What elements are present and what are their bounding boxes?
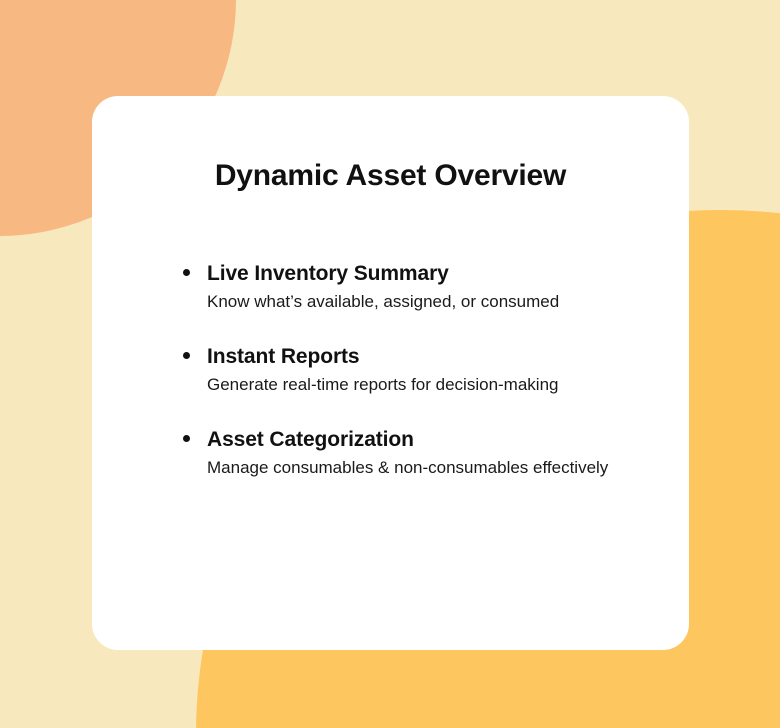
bullet-dot-icon xyxy=(183,269,190,276)
list-item: Instant Reports Generate real-time repor… xyxy=(183,343,649,398)
list-item: Asset Categorization Manage consumables … xyxy=(183,426,649,481)
list-item: Live Inventory Summary Know what’s avail… xyxy=(183,260,649,315)
feature-description: Generate real-time reports for decision-… xyxy=(207,372,649,398)
feature-description: Manage consumables & non-consumables eff… xyxy=(207,455,649,481)
feature-title: Asset Categorization xyxy=(207,426,649,454)
feature-description: Know what’s available, assigned, or cons… xyxy=(207,289,649,315)
feature-list: Live Inventory Summary Know what’s avail… xyxy=(132,260,649,481)
slide-canvas: Dynamic Asset Overview Live Inventory Su… xyxy=(0,0,780,728)
bullet-dot-icon xyxy=(183,435,190,442)
feature-title: Instant Reports xyxy=(207,343,649,371)
content-card: Dynamic Asset Overview Live Inventory Su… xyxy=(92,96,689,650)
feature-title: Live Inventory Summary xyxy=(207,260,649,288)
bullet-dot-icon xyxy=(183,352,190,359)
page-title: Dynamic Asset Overview xyxy=(132,158,649,194)
